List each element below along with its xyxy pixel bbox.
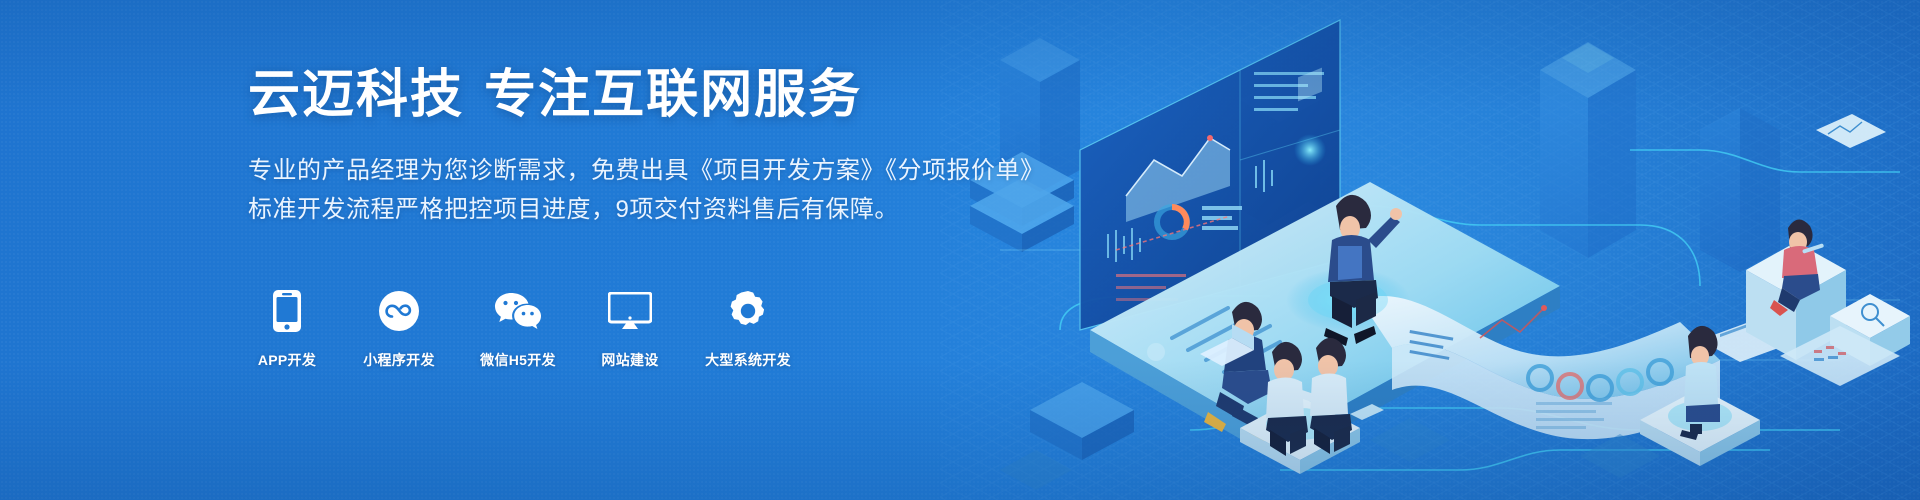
- service-label: 网站建设: [601, 350, 658, 370]
- hero-banner: 云迈科技 专注互联网服务 专业的产品经理为您诊断需求，免费出具《项目开发方案》《…: [0, 0, 1920, 500]
- service-list: APP开发 小程序开发 微信: [248, 288, 800, 370]
- service-label: 小程序开发: [363, 350, 435, 370]
- monitor-icon: [608, 288, 652, 334]
- service-label: APP开发: [258, 350, 316, 370]
- service-label: 大型系统开发: [705, 350, 791, 370]
- mobile-phone-icon: [272, 288, 302, 334]
- wechat-icon: [494, 288, 542, 334]
- page-title: 云迈科技 专注互联网服务: [248, 66, 1148, 126]
- subtitle-line-1: 专业的产品经理为您诊断需求，免费出具《项目开发方案》《分项报价单》: [248, 152, 1148, 191]
- subtitle-line-2: 标准开发流程严格把控项目进度，9项交付资料售后有保障。: [248, 191, 1148, 230]
- service-item-large-system[interactable]: 大型系统开发: [696, 288, 800, 370]
- service-item-app[interactable]: APP开发: [248, 288, 326, 370]
- service-item-wechat-h5[interactable]: 微信H5开发: [472, 288, 564, 370]
- service-item-miniprogram[interactable]: 小程序开发: [354, 288, 444, 370]
- mini-program-icon: [378, 288, 420, 334]
- service-label: 微信H5开发: [480, 350, 556, 370]
- banner-copy: 云迈科技 专注互联网服务 专业的产品经理为您诊断需求，免费出具《项目开发方案》《…: [248, 66, 1148, 230]
- service-item-website[interactable]: 网站建设: [592, 288, 668, 370]
- gear-icon: [727, 288, 769, 334]
- banner-subtitle: 专业的产品经理为您诊断需求，免费出具《项目开发方案》《分项报价单》 标准开发流程…: [248, 152, 1148, 230]
